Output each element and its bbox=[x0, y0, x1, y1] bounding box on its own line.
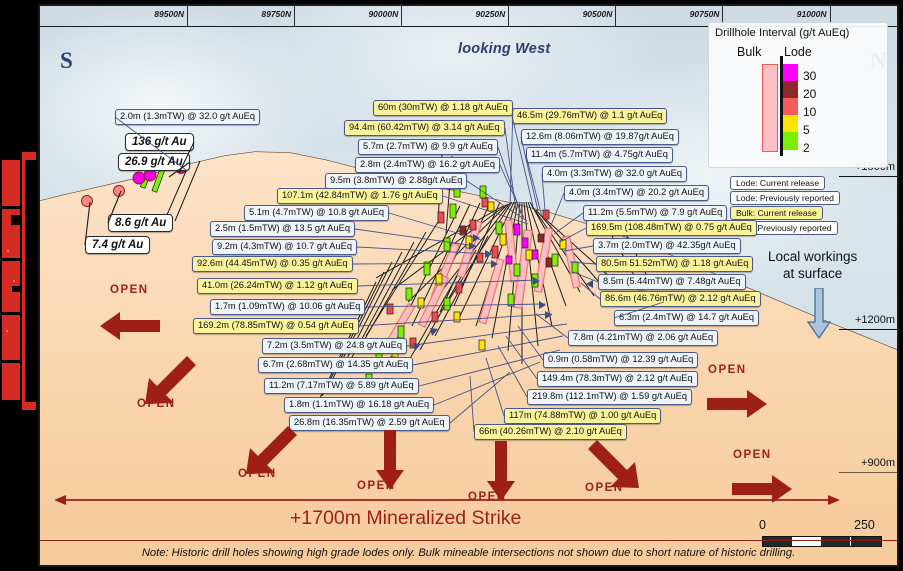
interval-label: 66m (40.26mTW) @ 2.10 g/t AuEq bbox=[474, 424, 627, 440]
interval-label: 0.9m (0.58mTW) @ 12.39 g/t AuEq bbox=[543, 352, 698, 368]
interval-label: 169.2m (78.85mTW) @ 0.54 g/t AuEq bbox=[193, 318, 359, 334]
core-rail-vertical bbox=[22, 152, 25, 410]
interval-label: 2.8m (2.4mTW) @ 16.2 g/t AuEq bbox=[355, 157, 500, 173]
local-workings-arrow-icon bbox=[806, 288, 832, 340]
northing-tick bbox=[187, 6, 188, 26]
open-direction-label: OPEN bbox=[733, 449, 772, 461]
interval-label: 1.7m (1.09mTW) @ 10.06 g/t AuEq bbox=[210, 299, 365, 315]
compass-south: S bbox=[60, 48, 73, 74]
open-direction-label: OPEN bbox=[137, 398, 176, 410]
scale-seg-2 bbox=[821, 537, 850, 546]
elevation-label-900: +900m bbox=[861, 457, 895, 469]
local-workings-line1: Local workings bbox=[768, 249, 857, 266]
strike-extent-arrow bbox=[54, 492, 840, 508]
interval-label: 136 g/t Au bbox=[125, 133, 194, 151]
northing-label: 89750N bbox=[261, 9, 294, 19]
northing-tick bbox=[294, 6, 295, 26]
footnote-text: Note: Historic drill holes showing high … bbox=[40, 547, 897, 559]
legend-swatch-10 bbox=[783, 98, 798, 115]
interval-label: 8.6 g/t Au bbox=[108, 214, 173, 232]
interval-label: 2.5m (1.5mTW) @ 13.5 g/t AuEq bbox=[210, 221, 355, 237]
interval-label: 2.0m (1.3mTW) @ 32.0 g/t AuEq bbox=[115, 109, 260, 125]
elevation-line-900 bbox=[839, 472, 897, 473]
northing-label: 91000N bbox=[797, 9, 830, 19]
core-notch-1 bbox=[11, 215, 20, 225]
legend-swatch-30 bbox=[783, 64, 798, 81]
northing-tick bbox=[508, 6, 509, 26]
core-gap-1 bbox=[2, 206, 20, 209]
legend-value-20: 20 bbox=[803, 87, 816, 101]
core-notch-2 bbox=[12, 286, 20, 292]
legend-swatch-20 bbox=[783, 81, 798, 98]
core-gap-2 bbox=[2, 258, 20, 261]
northing-label: 89500N bbox=[154, 9, 187, 19]
interval-label: 107.1m (42.84mTW) @ 1.76 g/t AuEq bbox=[277, 188, 443, 204]
interval-label: 94.4m (60.42mTW) @ 3.14 g/t AuEq bbox=[344, 120, 505, 136]
core-gap-3 bbox=[2, 312, 20, 315]
legend-swatch-2 bbox=[783, 132, 798, 150]
interval-label: 11.2m (5.5mTW) @ 7.9 g/t AuEq bbox=[583, 205, 727, 221]
core-gap-4 bbox=[2, 360, 20, 363]
scale-min-label: 0 bbox=[759, 518, 766, 532]
legend-title: Drillhole Interval (g/t AuEq) bbox=[715, 27, 849, 39]
interval-label: 4.0m (3.4mTW) @ 20.2 g/t AuEq bbox=[564, 185, 709, 201]
northing-label: 90000N bbox=[368, 9, 401, 19]
interval-label: 92.6m (44.45mTW) @ 0.35 g/t AuEq bbox=[192, 256, 353, 272]
interval-label: 86.6m (46.76mTW) @ 2.12 g/t AuEq bbox=[600, 291, 761, 307]
core-speck-b bbox=[13, 280, 15, 282]
legend-key-lode-previous: Lode: Previously reported bbox=[730, 191, 840, 205]
elevation-line-1500 bbox=[839, 176, 897, 177]
interval-label: 4.0m (3.3mTW) @ 32.0 g/t AuEq bbox=[542, 166, 687, 182]
open-direction-label: OPEN bbox=[357, 480, 396, 492]
interval-label: 5.1m (4.7mTW) @ 10.8 g/t AuEq bbox=[244, 205, 389, 221]
view-direction-label: looking West bbox=[458, 41, 550, 57]
interval-label: 5.7m (2.7mTW) @ 9.9 g/t AuEq bbox=[358, 139, 498, 155]
local-workings-line2: at surface bbox=[768, 266, 857, 283]
interval-label: 11.2m (7.17mTW) @ 5.89 g/t AuEq bbox=[264, 378, 419, 394]
interval-label: 41.0m (26.24mTW) @ 1.12 g/t AuEq bbox=[197, 278, 358, 294]
northing-label: 90250N bbox=[476, 9, 509, 19]
core-speck-c bbox=[6, 330, 8, 332]
interval-label: 12.6m (8.06mTW) @ 19.87g/t AuEq bbox=[521, 129, 679, 145]
scale-seg-3 bbox=[851, 537, 881, 546]
core-rail-top bbox=[22, 152, 36, 160]
legend-key-lode-current: Lode: Current release bbox=[730, 176, 825, 190]
core-strip-main bbox=[2, 160, 20, 400]
interval-label: 9.2m (4.3mTW) @ 10.7 g/t AuEq bbox=[212, 239, 357, 255]
cross-section-figure: 89500N89750N90000N90250N90500N90750N9100… bbox=[0, 0, 903, 571]
interval-label: 26.8m (16.35mTW) @ 2.59 g/t AuEq bbox=[289, 415, 450, 431]
core-photo-gutter bbox=[0, 0, 38, 571]
legend-value-5: 5 bbox=[803, 123, 810, 137]
legend-bulk-header: Bulk bbox=[737, 45, 761, 59]
core-rail-bottom bbox=[22, 402, 36, 410]
interval-label: 3.7m (2.0mTW) @ 42.35g/t AuEq bbox=[593, 238, 741, 254]
northing-tick bbox=[615, 6, 616, 26]
legend-value-30: 30 bbox=[803, 69, 816, 83]
elevation-label-1200: +1200m bbox=[855, 314, 895, 326]
interval-label: 11.4m (5.7mTW) @ 4.75g/t AuEq bbox=[526, 147, 673, 163]
northing-tick bbox=[401, 6, 402, 26]
legend-lode-header: Lode bbox=[784, 45, 812, 59]
interval-label: 80.5m 51.52mTW) @ 1.18 g/t AuEq bbox=[596, 256, 753, 272]
legend-panel: Drillhole Interval (g/t AuEq) Bulk Lode … bbox=[708, 22, 888, 168]
legend-value-10: 10 bbox=[803, 105, 816, 119]
interval-label: 7.8m (4.21mTW) @ 2.06 g/t AuEq bbox=[568, 330, 718, 346]
scale-seg-1 bbox=[763, 537, 792, 546]
footnote-divider bbox=[40, 540, 897, 541]
interval-label: 7.2m (3.5mTW) @ 24.8 g/t AuEq bbox=[262, 338, 407, 354]
legend-bulk-swatch bbox=[762, 64, 778, 152]
legend-key-bulk-current: Bulk: Current release bbox=[730, 206, 823, 220]
elevation-line-1200 bbox=[839, 329, 897, 330]
interval-label: 8.5m (5.44mTW) @ 7.48g/t AuEq bbox=[598, 274, 746, 290]
interval-label: 219.8m (112.1mTW) @ 1.59 g/t AuEq bbox=[527, 389, 692, 405]
northing-label: 90750N bbox=[690, 9, 723, 19]
interval-label: 7.4 g/t Au bbox=[85, 236, 150, 254]
interval-label: 26.9 g/t Au bbox=[118, 153, 190, 171]
open-direction-label: OPEN bbox=[708, 364, 747, 376]
legend-swatch-5 bbox=[783, 115, 798, 132]
legend-value-2: 2 bbox=[803, 141, 810, 155]
interval-label: 149.4m (78.3mTW) @ 2.12 g/t AuEq bbox=[537, 371, 698, 387]
interval-label: 1.8m (1.1mTW) @ 16.18 g/t AuEq bbox=[284, 397, 434, 413]
local-workings-annotation: Local workings at surface bbox=[768, 249, 857, 283]
section-plot: 89500N89750N90000N90250N90500N90750N9100… bbox=[38, 4, 899, 567]
interval-label: 6.3m (2.4mTW) @ 14.7 g/t AuEq bbox=[614, 310, 759, 326]
strike-length-title: +1700m Mineralized Strike bbox=[290, 507, 521, 530]
interval-label: 46.5m (29.76mTW) @ 1.1 g/t AuEq bbox=[512, 108, 667, 124]
open-direction-label: OPEN bbox=[238, 468, 277, 480]
scale-bar bbox=[762, 536, 882, 547]
interval-label: 60m (30mTW) @ 1.18 g/t AuEq bbox=[373, 100, 513, 116]
interval-label: 117m (74.88mTW) @ 1.00 g/t AuEq bbox=[504, 408, 661, 424]
interval-label: 6.7m (2.68mTW) @ 14.35 g/t AuEq bbox=[258, 357, 413, 373]
core-speck-a bbox=[7, 250, 9, 252]
open-direction-label: OPEN bbox=[110, 284, 149, 296]
interval-label: 169.5m (108.48mTW) @ 0.75 g/t AuEq bbox=[586, 220, 757, 236]
northing-label: 90500N bbox=[583, 9, 616, 19]
interval-label: 9.5m (3.8mTW) @ 2.88g/t AuEq bbox=[325, 173, 467, 189]
